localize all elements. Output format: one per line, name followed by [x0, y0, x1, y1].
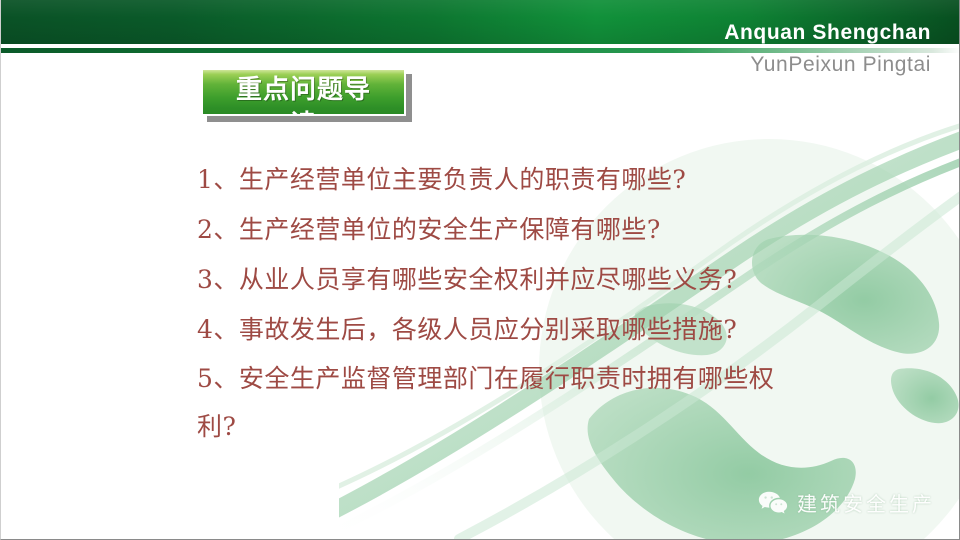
- question-item-4: 4、事故发生后，各级人员应分别采取哪些措施?: [197, 305, 837, 355]
- wechat-icon: [758, 490, 788, 516]
- section-title-badge: 重点问题导 读: [201, 68, 406, 116]
- question-item-3: 3、从业人员享有哪些安全权利并应尽哪些义务?: [197, 255, 837, 305]
- question-list: 1、生产经营单位主要负责人的职责有哪些? 2、生产经营单位的安全生产保障有哪些?…: [197, 155, 837, 451]
- question-item-2: 2、生产经营单位的安全生产保障有哪些?: [197, 205, 837, 255]
- presentation-slide: Anquan Shengchan YunPeixun Pingtai 重点问题导…: [0, 0, 960, 540]
- badge-body: 重点问题导 读: [201, 68, 406, 116]
- badge-label: 重点问题导: [203, 72, 404, 108]
- badge-label-clipped-line: 读: [203, 110, 404, 116]
- question-item-5: 5、安全生产监督管理部门在履行职责时拥有哪些权利?: [197, 355, 812, 451]
- watermark-label: 建筑安全生产: [797, 488, 935, 517]
- question-item-1: 1、生产经营单位主要负责人的职责有哪些?: [197, 155, 837, 205]
- header-title: Anquan Shengchan: [724, 22, 931, 43]
- header-subtitle: YunPeixun Pingtai: [750, 54, 931, 75]
- watermark: 建筑安全生产: [758, 488, 935, 517]
